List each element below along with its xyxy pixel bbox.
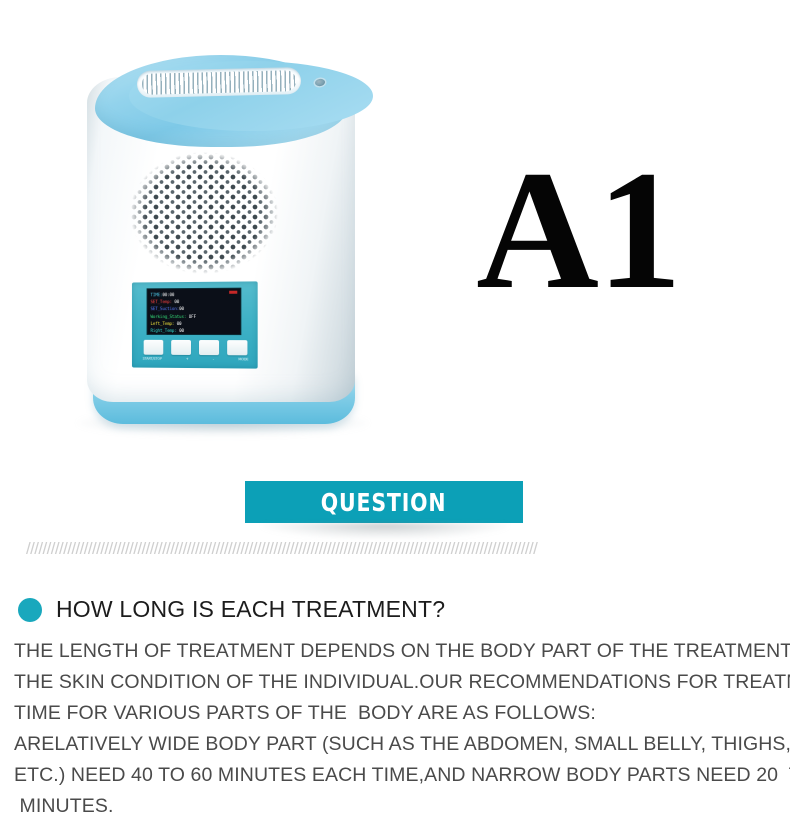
faq-answer-line: TIME FOR VARIOUS PARTS OF THE BODY ARE A… (14, 698, 782, 729)
device-button-start-stop[interactable] (144, 340, 164, 355)
lcd-line-left-temp: Left_Temp: 00 (150, 320, 237, 327)
device-button-row (144, 340, 248, 356)
faq-answer-line: ARELATIVELY WIDE BODY PART (SUCH AS THE … (14, 729, 782, 760)
question-banner-shadow (262, 523, 508, 539)
device-button-labels: START/STOP + - MODE (143, 357, 249, 362)
device-button-minus[interactable] (199, 340, 219, 355)
faq-heading: HOW LONG IS EACH TREATMENT? (18, 596, 445, 623)
device-button-label-plus: + (186, 357, 189, 361)
faq-answer-line: MINUTES. (14, 791, 782, 822)
device-button-label-minus: - (213, 357, 214, 361)
faq-question-text: HOW LONG IS EACH TREATMENT? (56, 596, 445, 623)
cryolipolysis-device-illustration: TIME:00:00 SET_Temp: 00 SET_Suction:00 W… (65, 47, 375, 442)
lcd-line-right-temp: Right_Temp: 00 (150, 327, 237, 334)
hatch-divider: ////////////////////////////////////////… (26, 540, 754, 558)
faq-answer: THE LENGTH OF TREATMENT DEPENDS ON THE B… (14, 636, 782, 822)
device-button-label-mode: MODE (238, 357, 248, 361)
product-model-label: A1 (476, 145, 680, 315)
device-vent-grille (137, 67, 302, 98)
question-banner: QUESTION (245, 481, 523, 523)
bullet-circle-icon (18, 598, 42, 622)
device-button-label-start-stop: START/STOP (143, 357, 162, 361)
device-control-panel: TIME:00:00 SET_Temp: 00 SET_Suction:00 W… (132, 281, 258, 368)
faq-answer-line: THE SKIN CONDITION OF THE INDIVIDUAL.OUR… (14, 667, 782, 698)
device-lcd-screen: TIME:00:00 SET_Temp: 00 SET_Suction:00 W… (147, 288, 242, 335)
question-banner-title: QUESTION (321, 488, 447, 517)
device-button-mode[interactable] (227, 340, 247, 355)
product-image-block: TIME:00:00 SET_Temp: 00 SET_Suction:00 W… (20, 42, 770, 465)
device-speaker-grille (128, 151, 280, 275)
faq-answer-line: ETC.) NEED 40 TO 60 MINUTES EACH TIME,AN… (14, 760, 782, 791)
lcd-indicator (229, 291, 237, 294)
lcd-line-working-status: Working_Status: OFF (150, 312, 237, 319)
faq-answer-line: THE LENGTH OF TREATMENT DEPENDS ON THE B… (14, 636, 782, 667)
device-button-plus[interactable] (171, 340, 191, 355)
question-banner-wrapper: QUESTION (0, 481, 790, 526)
